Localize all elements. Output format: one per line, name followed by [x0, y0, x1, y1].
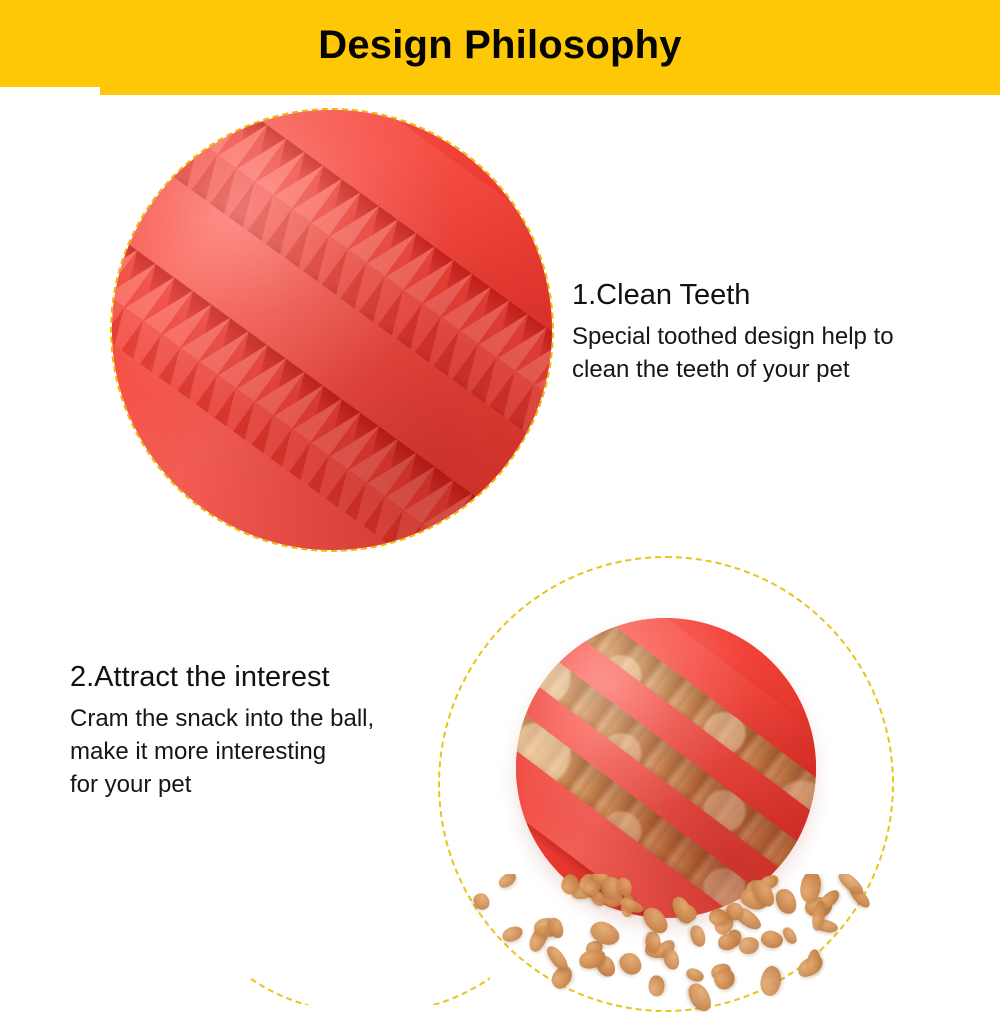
kibble-piece	[648, 976, 664, 997]
kibble-piece	[781, 925, 800, 946]
feature-body-line: Cram the snack into the ball,	[70, 702, 470, 735]
kibble-piece	[545, 916, 566, 941]
kibble-piece	[759, 928, 784, 949]
feature-body-line: make it more interesting	[70, 735, 470, 768]
banner-notch	[0, 87, 100, 97]
attract-interest-product-image	[438, 556, 894, 1012]
kibble-piece	[684, 966, 705, 984]
red-chew-ball-with-treats	[516, 618, 816, 918]
header-banner: Design Philosophy	[0, 0, 1000, 95]
kibble-piece	[759, 965, 784, 998]
kibble-piece	[805, 948, 822, 975]
kibble-piece	[738, 936, 761, 956]
footer-dashed-arc-clip	[250, 975, 490, 1005]
kibble-piece	[500, 924, 525, 945]
clean-teeth-product-image	[112, 110, 552, 550]
feature-body-line: clean the teeth of your pet	[572, 353, 984, 386]
kibble-piece	[688, 923, 708, 948]
feature-heading-attract-interest: 2.Attract the interest	[70, 662, 470, 694]
kibble-piece	[616, 948, 647, 979]
kibble-piece	[685, 980, 716, 1012]
attract-interest-text-block: 2.Attract the interest Cram the snack in…	[70, 662, 470, 801]
scattered-kibble-group	[438, 874, 894, 1012]
infographic-stage: Design Philosophy 1.Clean Teeth Special …	[0, 0, 1000, 1000]
kibble-piece	[470, 890, 492, 913]
clean-teeth-text-block: 1.Clean Teeth Special toothed design hel…	[572, 280, 984, 386]
feature-body-attract-interest: Cram the snack into the ball, make it mo…	[70, 702, 470, 801]
feature-body-line: for your pet	[70, 768, 470, 801]
dashed-circle-outline	[250, 975, 490, 1005]
feature-heading-clean-teeth: 1.Clean Teeth	[572, 280, 984, 312]
kibble-piece	[661, 947, 681, 971]
kibble-piece	[497, 874, 520, 891]
kibble-piece	[772, 885, 800, 917]
page-title: Design Philosophy	[318, 25, 681, 65]
red-chew-ball-closeup	[112, 110, 552, 550]
feature-body-line: Special toothed design help to	[572, 320, 984, 353]
feature-body-clean-teeth: Special toothed design help to clean the…	[572, 320, 984, 386]
kibble-piece	[639, 903, 672, 938]
